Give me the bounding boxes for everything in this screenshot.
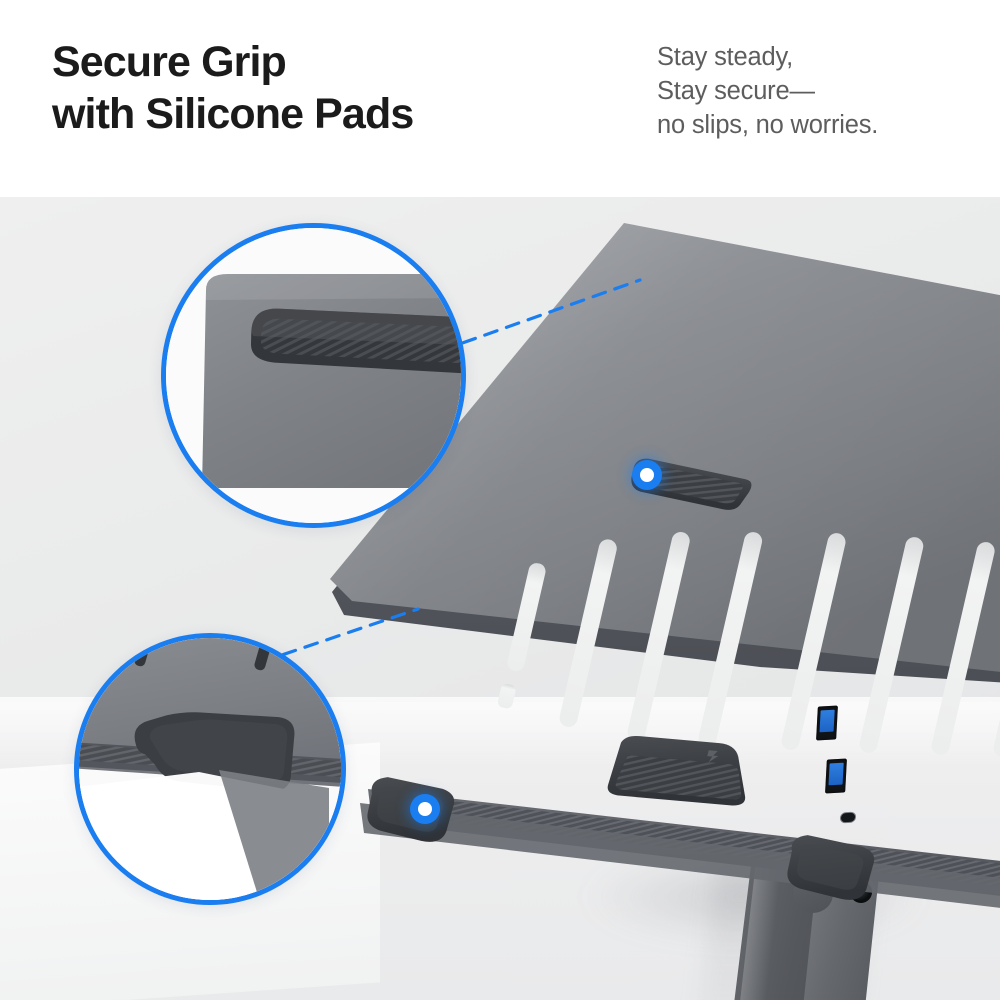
zoom-aluminum-corner (202, 274, 461, 488)
small-vent-hole (497, 683, 517, 710)
marker-dot-lip-stopper (410, 794, 440, 824)
header-band: Secure Grip with Silicone Pads Stay stea… (0, 0, 1000, 197)
product-photo-scene (0, 197, 1000, 1000)
front-ledge (360, 789, 1000, 909)
callout-circle-top-corner-pad (161, 223, 466, 528)
center-silicone-pad (607, 734, 750, 807)
page-title: Secure Grip with Silicone Pads (52, 36, 413, 141)
product-marketing-image: Secure Grip with Silicone Pads Stay stea… (0, 0, 1000, 1000)
page-subtitle: Stay steady, Stay secure— no slips, no w… (657, 41, 878, 143)
callout-circle-lip-stopper (74, 633, 346, 905)
lip-stopper-right (785, 833, 876, 902)
marker-dot-top-corner-pad (632, 460, 662, 490)
